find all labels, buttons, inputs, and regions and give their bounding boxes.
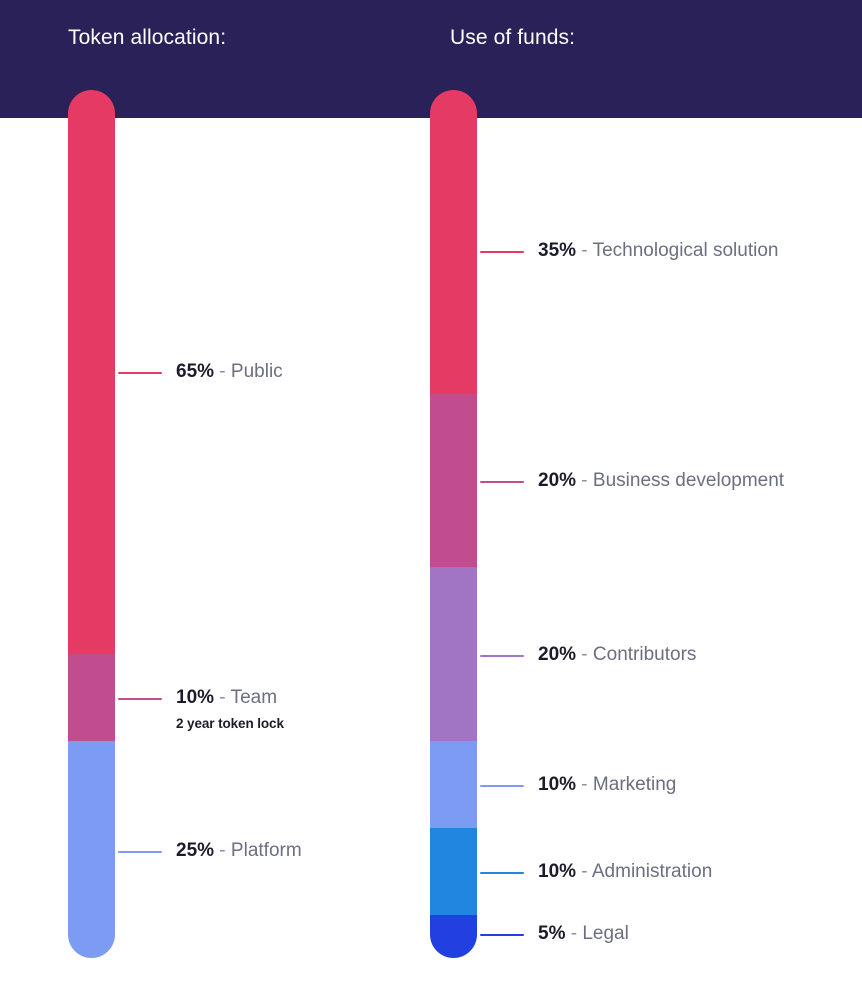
- callout-label: Team: [231, 687, 277, 708]
- callout-label: Technological solution: [593, 240, 779, 261]
- callout-percent: 20%: [538, 644, 576, 665]
- callout-legal: 5% - Legal: [538, 922, 629, 946]
- bar-segment-business-development: [430, 394, 477, 568]
- connector-line-business-development: [480, 481, 524, 483]
- callout-row: 5% - Legal: [538, 922, 629, 946]
- connector-line-administration: [480, 872, 524, 874]
- callout-row: 10% - Marketing: [538, 773, 676, 797]
- connector-line-contributors: [480, 655, 524, 657]
- callout-percent: 20%: [538, 470, 576, 491]
- connector-line-marketing: [480, 785, 524, 787]
- callout-label: Legal: [582, 923, 629, 944]
- callout-dash: -: [214, 361, 231, 382]
- connector-line-technological-solution: [480, 251, 524, 253]
- callout-dash: -: [576, 861, 592, 882]
- callout-team: 10% - Team2 year token lock: [176, 686, 284, 733]
- callout-row: 25% - Platform: [176, 839, 302, 863]
- callout-marketing: 10% - Marketing: [538, 773, 676, 797]
- bar-segment-public: [68, 90, 115, 654]
- callout-platform: 25% - Platform: [176, 839, 302, 863]
- callout-dash: -: [576, 240, 593, 261]
- callout-row: 20% - Business development: [538, 469, 784, 493]
- bar-segment-team: [68, 654, 115, 741]
- connector-line-platform: [118, 851, 162, 853]
- callout-label: Public: [231, 361, 283, 382]
- bar-segment-technological-solution: [430, 90, 477, 394]
- connector-line-team: [118, 698, 162, 700]
- callout-dash: -: [565, 923, 582, 944]
- callout-row: 35% - Technological solution: [538, 239, 778, 263]
- callout-percent: 65%: [176, 361, 214, 382]
- panel-title-token-allocation: Token allocation:: [68, 26, 226, 50]
- callout-technological-solution: 35% - Technological solution: [538, 239, 778, 263]
- callout-business-development: 20% - Business development: [538, 469, 784, 493]
- bar-segment-contributors: [430, 567, 477, 741]
- callout-percent: 35%: [538, 240, 576, 261]
- callout-label: Business development: [593, 470, 784, 491]
- callout-dash: -: [576, 644, 593, 665]
- callout-row: 65% - Public: [176, 360, 283, 384]
- callout-row: 10% - Team: [176, 686, 284, 710]
- callout-percent: 25%: [176, 840, 214, 861]
- bar-segment-platform: [68, 741, 115, 958]
- token-allocation-bar: [68, 90, 115, 958]
- bar-segment-administration: [430, 828, 477, 915]
- callout-administration: 10% - Administration: [538, 860, 712, 884]
- callout-label: Contributors: [593, 644, 697, 665]
- callout-dash: -: [576, 774, 593, 795]
- callout-percent: 10%: [538, 861, 576, 882]
- infographic-root: Token allocation: Use of funds: 65% - Pu…: [0, 0, 862, 992]
- callout-percent: 10%: [538, 774, 576, 795]
- callout-label: Platform: [231, 840, 302, 861]
- callout-percent: 10%: [176, 687, 214, 708]
- callout-contributors: 20% - Contributors: [538, 643, 696, 667]
- callout-label: Administration: [592, 861, 712, 882]
- bar-segment-marketing: [430, 741, 477, 828]
- callout-sublabel: 2 year token lock: [176, 716, 284, 733]
- header-band: [0, 0, 862, 118]
- callout-public: 65% - Public: [176, 360, 283, 384]
- callout-dash: -: [214, 840, 231, 861]
- use-of-funds-bar: [430, 90, 477, 958]
- callout-percent: 5%: [538, 923, 565, 944]
- callout-row: 10% - Administration: [538, 860, 712, 884]
- callout-dash: -: [576, 470, 593, 491]
- connector-line-legal: [480, 934, 524, 936]
- callout-dash: -: [214, 687, 231, 708]
- callout-label: Marketing: [593, 774, 676, 795]
- connector-line-public: [118, 372, 162, 374]
- bar-segment-legal: [430, 915, 477, 958]
- panel-title-use-of-funds: Use of funds:: [450, 26, 575, 50]
- callout-row: 20% - Contributors: [538, 643, 696, 667]
